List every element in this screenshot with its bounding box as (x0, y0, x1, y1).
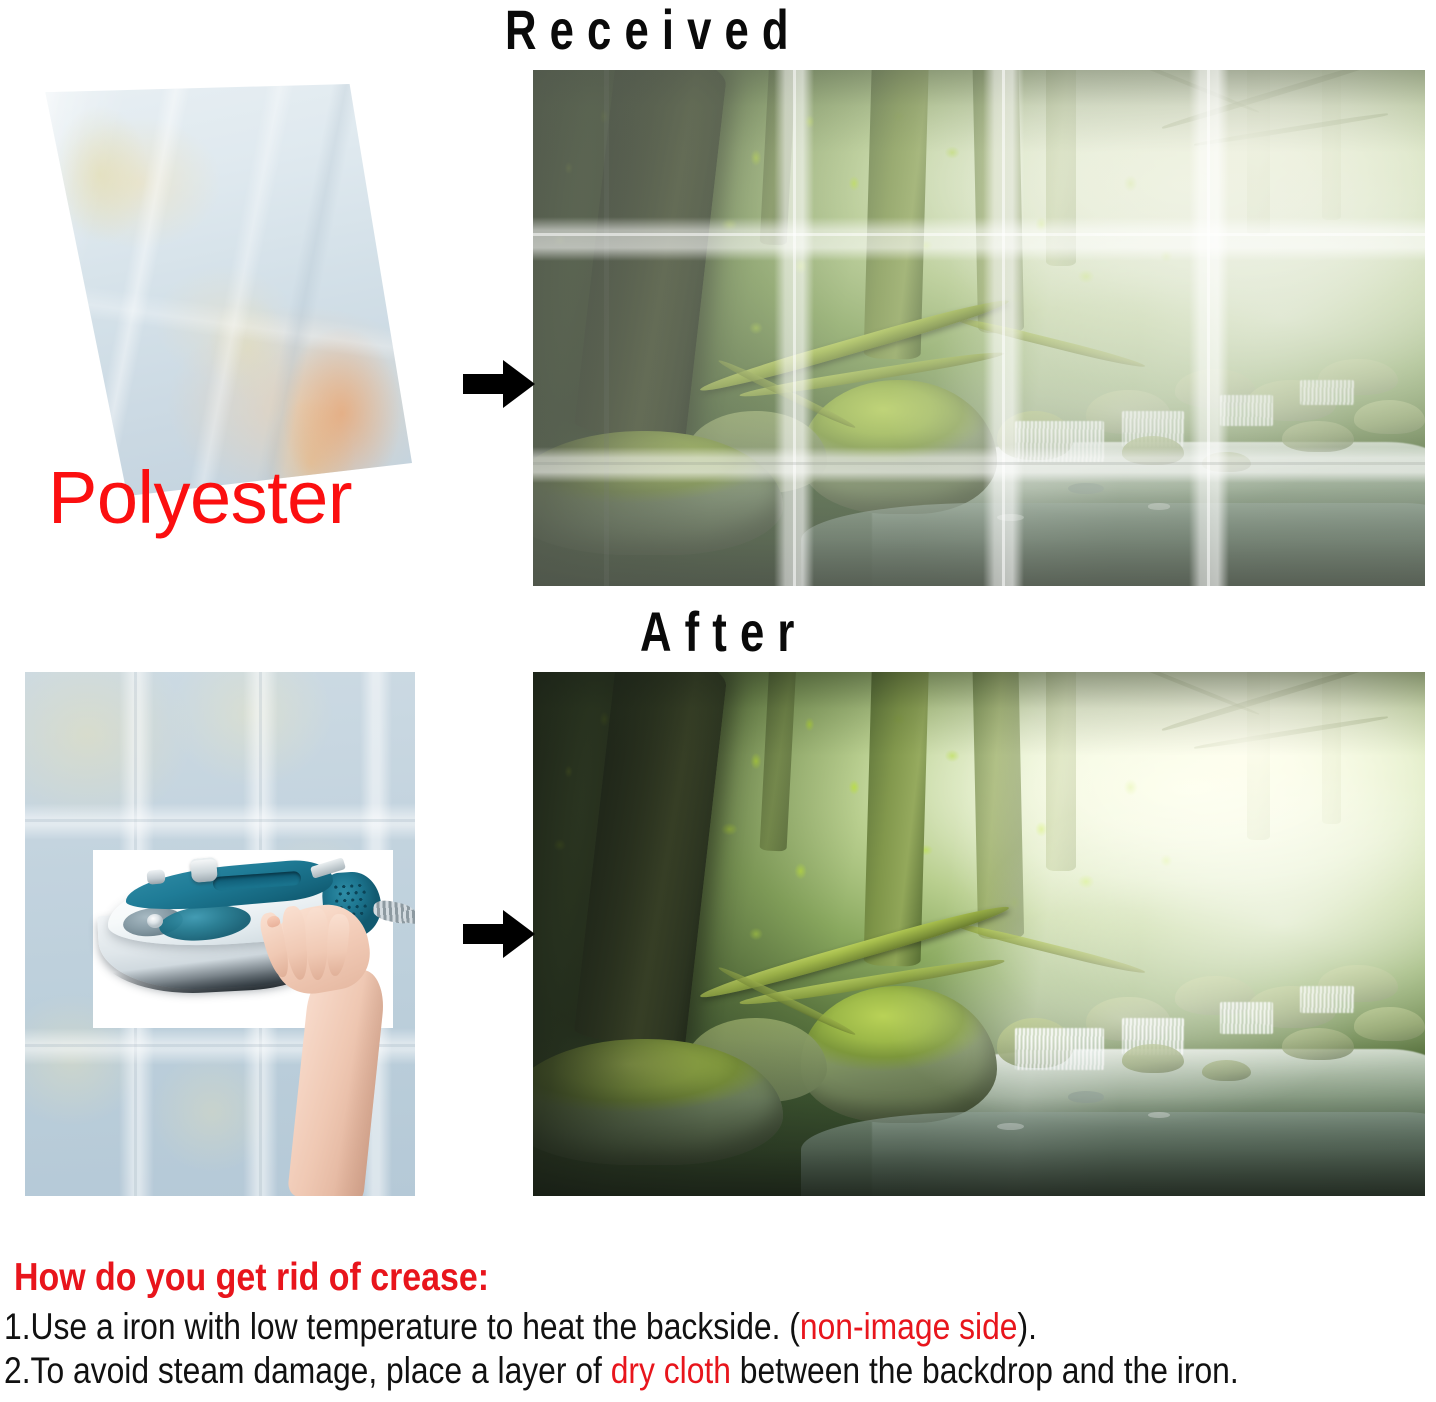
ironing-demo-photo (25, 672, 415, 1196)
backside-fold-horizontal-1-edge (25, 819, 415, 822)
right-arrow-icon (463, 908, 535, 965)
received-washed-overlay (533, 70, 1425, 586)
care-instruction-2: 2.To avoid steam damage, place a layer o… (4, 1350, 1239, 1392)
received-title: Received (505, 2, 802, 58)
iron-spray-button (147, 914, 163, 928)
care-instruction-1: 1.Use a iron with low temperature to hea… (4, 1306, 1037, 1348)
care-heading: How do you get rid of crease: (14, 1256, 489, 1300)
after-title: After (640, 604, 807, 660)
care-1-highlight: non-image side (800, 1306, 1018, 1347)
care-1-prefix: 1.Use a iron with low temperature to hea… (4, 1306, 800, 1347)
care-2-suffix: between the backdrop and the iron. (731, 1350, 1239, 1391)
received-backdrop-photo (533, 70, 1425, 586)
after-backdrop-photo (533, 672, 1425, 1196)
forearm-shading (287, 965, 387, 1196)
iron-steam-knob (190, 857, 218, 883)
hand-icon (243, 906, 393, 1196)
forest-top-shadow (533, 672, 1425, 1196)
folded-fabric-photo (22, 84, 412, 496)
polyester-label: Polyester (48, 461, 352, 535)
care-2-highlight: dry cloth (611, 1350, 731, 1391)
care-1-suffix: ). (1017, 1306, 1036, 1347)
iron-temperature-dial (146, 869, 165, 885)
right-arrow-icon (463, 358, 535, 415)
care-2-prefix: 2.To avoid steam damage, place a layer o… (4, 1350, 611, 1391)
fabric-edge-highlight (22, 84, 412, 496)
